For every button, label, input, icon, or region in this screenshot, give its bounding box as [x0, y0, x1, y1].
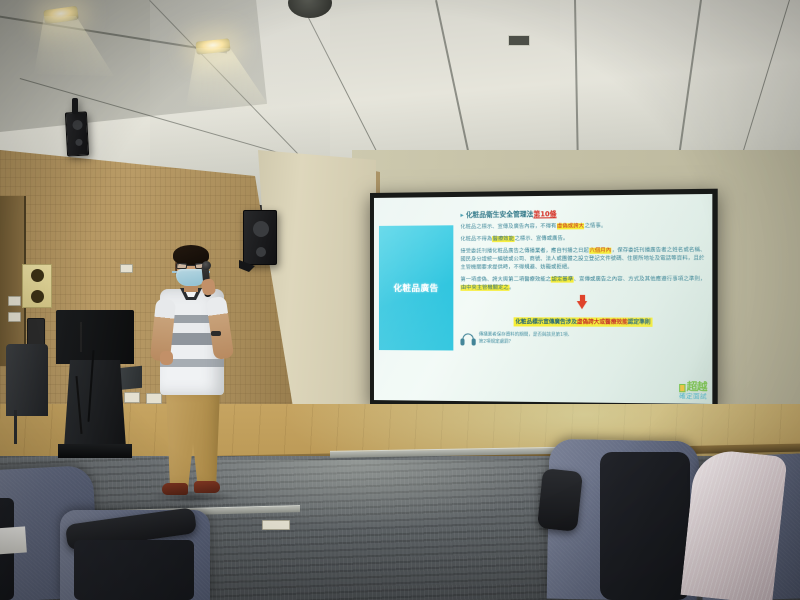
arrow-head	[577, 301, 587, 309]
ceiling-fixture	[508, 35, 530, 46]
text-segment: 接受委託刊播化粧品廣告之傳播業者，應自刊播之日起	[460, 247, 588, 254]
bullet-icon: ▸	[460, 211, 463, 219]
lectern-mic-stand	[80, 322, 82, 352]
sign-pictogram-icon	[31, 269, 44, 282]
logo-wordmark: 超越	[679, 383, 707, 394]
glasses-bridge	[187, 265, 195, 266]
stage-chair[interactable]	[6, 344, 48, 416]
slide-paragraph-3: 接受委託刊播化粧品廣告之傳播業者，應自刊播之日起六個月內，保存委託刊播廣告者之姓…	[460, 245, 708, 272]
text-segment-highlight: 由中央主管機關定之	[460, 285, 509, 291]
text-segment-highlight: 認定基準	[551, 276, 574, 282]
slide-logo: 超越 確定面試	[679, 383, 707, 401]
text-segment-highlight: 六個月內	[589, 247, 612, 253]
headphone-icon	[460, 333, 475, 346]
seat-armrest	[537, 468, 583, 532]
wall-outlet	[8, 312, 21, 322]
banner-prefix: 化粧品標示宣傳廣告涉及	[515, 319, 576, 325]
auditorium-seat-shadow	[74, 540, 194, 600]
text-segment: 。	[509, 285, 514, 291]
slide-sidebar-panel: 化粧品廣告	[379, 225, 453, 350]
headphone-cup-right	[471, 338, 475, 345]
presenter-hand-left	[160, 351, 173, 365]
slide-sidebar-label: 化粧品廣告	[393, 282, 438, 294]
text-segment: 化粧品不得為	[460, 236, 492, 242]
slide-heading-text: 化粧品衛生安全管理法	[466, 210, 534, 219]
wall-outlet	[8, 296, 21, 306]
slide-footnote: 傳播業者保存資料的期間，是否與該見第1項、 第2項規定處罰？	[460, 332, 708, 347]
text-segment-highlight: 虛偽或誇大	[556, 223, 584, 229]
headphone-cup-left	[460, 338, 464, 345]
presenter	[140, 247, 250, 517]
audience-member	[681, 448, 788, 600]
lectern-top	[56, 310, 134, 364]
presenter-trousers	[164, 389, 222, 489]
slide-body: ▸化粧品衛生安全管理法第10條 化粧品之標示、宣傳及廣告內容，不得有虛偽或誇大之…	[460, 206, 708, 399]
presenter-hand-right	[201, 278, 217, 296]
footnote-line-1: 傳播業者保存資料的期間，是否與該見第1項、	[479, 332, 572, 339]
wall-control-panel[interactable]	[27, 318, 45, 346]
presentation-slide: 化粧品廣告 ▸化粧品衛生安全管理法第10條 化粧品之標示、宣傳及廣告內容，不得有…	[374, 194, 712, 404]
speaker-driver-icon	[253, 221, 269, 237]
sign-pictogram-icon	[31, 290, 44, 303]
presenter-wristwatch	[211, 331, 221, 336]
ceiling-speaker	[288, 0, 332, 18]
text-segment: 、宣傳或廣告之內容、方式及其他應遵行事項之準則，	[574, 276, 706, 282]
ceiling-seam	[736, 0, 790, 172]
wall-notice-sign	[22, 264, 52, 308]
slide-banner: 化粧品標示宣傳廣告涉及虛偽誇大或醫療效能認定準則	[513, 318, 652, 328]
banner-suffix: 認定準則	[628, 319, 651, 325]
auditorium-seat-shadow	[600, 452, 690, 600]
logo-subtitle: 確定面試	[679, 394, 707, 401]
ceiling-shadow-panel	[0, 0, 267, 135]
text-segment: 之情事。	[585, 223, 607, 229]
slide-heading: ▸化粧品衛生安全管理法第10條	[460, 206, 708, 219]
logo-main-text: 超越	[687, 383, 707, 394]
presenter-shoe-right	[194, 481, 220, 493]
microphone-head	[202, 261, 211, 270]
stage-chair-leg	[14, 410, 17, 444]
lectern-base	[58, 444, 132, 458]
slide-heading-article: 第10條	[533, 210, 556, 218]
banner-emphasis: 虛偽誇大或醫療效能	[577, 319, 628, 325]
down-arrow-icon	[577, 295, 588, 309]
lecture-hall-photo: 化粧品廣告 ▸化粧品衛生安全管理法第10條 化粧品之標示、宣傳及廣告內容，不得有…	[0, 0, 800, 600]
slide-paragraph-2: 化粧品不得為醫療效能之標示、宣傳或廣告。	[460, 233, 708, 243]
wall-mounted-speaker	[65, 111, 89, 156]
lectern-body	[64, 360, 126, 448]
text-segment: 化粧品之標示、宣傳及廣告內容，不得有	[460, 223, 556, 230]
screen-surface: 化粧品廣告 ▸化粧品衛生安全管理法第10條 化粧品之標示、宣傳及廣告內容，不得有…	[374, 194, 712, 404]
footnote-line-2: 第2項規定處罰？	[479, 339, 572, 346]
projection-screen: 化粧品廣告 ▸化粧品衛生安全管理法第10條 化粧品之標示、宣傳及廣告內容，不得有…	[370, 189, 718, 411]
floor-outlet	[262, 520, 290, 530]
slide-paragraph-1: 化粧品之標示、宣傳及廣告內容，不得有虛偽或誇大之情事。	[460, 221, 708, 232]
presenter-shoe-left	[162, 483, 188, 495]
speaker-driver-icon	[72, 120, 83, 131]
lectern[interactable]	[56, 310, 134, 460]
writing-tablet	[0, 526, 27, 555]
speaker-driver-icon	[75, 139, 82, 146]
speaker-driver-icon	[256, 247, 266, 257]
text-segment: 第一項虛偽、誇大與第二項醫療效能之	[460, 276, 551, 282]
slide-footnote-text: 傳播業者保存資料的期間，是否與該見第1項、 第2項規定處罰？	[479, 332, 572, 346]
wall-outlet	[120, 264, 133, 273]
slide-paragraph-4: 第一項虛偽、誇大與第二項醫療效能之認定基準、宣傳或廣告之內容、方式及其他應遵行事…	[460, 275, 708, 292]
mask-strap-left	[172, 271, 177, 273]
logo-mark-icon	[679, 384, 685, 392]
speaker-bracket	[72, 98, 78, 114]
text-segment: 之標示、宣傳或廣告。	[515, 235, 569, 241]
text-segment-highlight: 醫療效能	[492, 236, 514, 242]
